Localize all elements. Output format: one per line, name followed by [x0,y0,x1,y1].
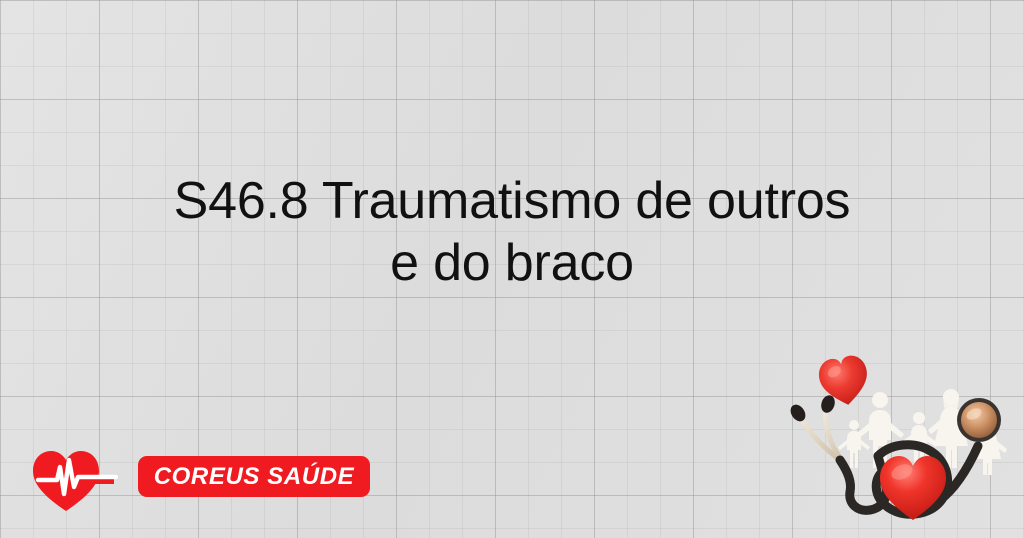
brand-name-badge: COREUS SAÚDE [138,456,370,497]
brand-logo[interactable]: COREUS SAÚDE [30,447,355,513]
heart-pulse-icon [30,447,134,513]
promo-card: S46.8 Traumatismo de outros e do braco C… [0,0,1024,538]
brand-name-label: COREUS SAÚDE [154,463,355,491]
page-title: S46.8 Traumatismo de outros e do braco [80,170,944,294]
health-family-stethoscope-illustration [774,348,1024,538]
stethoscope-chestpiece-icon [957,398,1001,442]
